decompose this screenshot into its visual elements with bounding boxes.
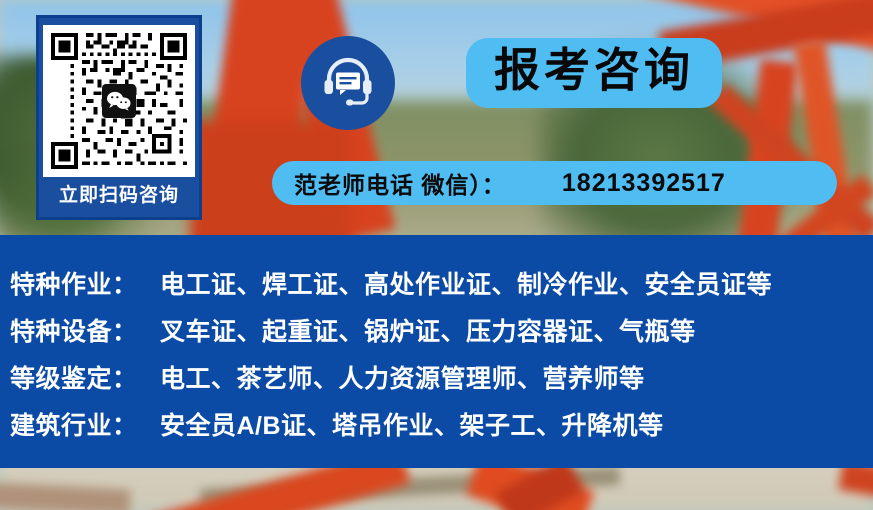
wechat-glyph — [106, 91, 132, 111]
page-title: 报考咨询 — [494, 44, 694, 96]
phone-number[interactable]: 18213392517 — [562, 169, 726, 198]
promo-poster: 立即扫码咨询 报考咨询 范老师电话 微信）： 18213392517 特种作业：… — [0, 0, 873, 510]
qr-caption: 立即扫码咨询 — [59, 186, 179, 207]
category-value: 安全员A/B证、塔吊作业、架子工、升降机等 — [160, 406, 664, 442]
phone-label: 范老师电话 微信）： — [294, 166, 506, 200]
headset-glyph — [319, 54, 377, 112]
category-label: 等级鉴定： — [10, 359, 160, 395]
category-value: 电工证、焊工证、高处作业证、制冷作业、安全员证等 — [160, 265, 772, 301]
category-label: 特种设备： — [10, 312, 160, 348]
category-row-special-operations: 特种作业： 电工证、焊工证、高处作业证、制冷作业、安全员证等 — [10, 265, 873, 301]
qr-code-image[interactable] — [43, 25, 195, 177]
category-value: 叉车证、起重证、锅炉证、压力容器证、气瓶等 — [160, 312, 696, 348]
qr-card[interactable]: 立即扫码咨询 — [36, 15, 202, 220]
category-value: 电工、茶艺师、人力资源管理师、营养师等 — [160, 359, 645, 395]
headset-support-icon[interactable] — [301, 36, 395, 130]
category-row-special-equipment: 特种设备： 叉车证、起重证、锅炉证、压力容器证、气瓶等 — [10, 312, 873, 348]
title-badge: 报考咨询 — [466, 38, 722, 108]
phone-badge[interactable]: 范老师电话 微信）： 18213392517 — [272, 161, 837, 205]
category-label: 特种作业： — [10, 265, 160, 301]
category-row-construction-industry: 建筑行业： 安全员A/B证、塔吊作业、架子工、升降机等 — [10, 406, 873, 442]
wechat-icon — [102, 84, 136, 118]
category-label: 建筑行业： — [10, 406, 160, 442]
category-row-grade-appraisal: 等级鉴定： 电工、茶艺师、人力资源管理师、营养师等 — [10, 359, 873, 395]
categories-panel: 特种作业： 电工证、焊工证、高处作业证、制冷作业、安全员证等 特种设备： 叉车证… — [0, 235, 873, 468]
